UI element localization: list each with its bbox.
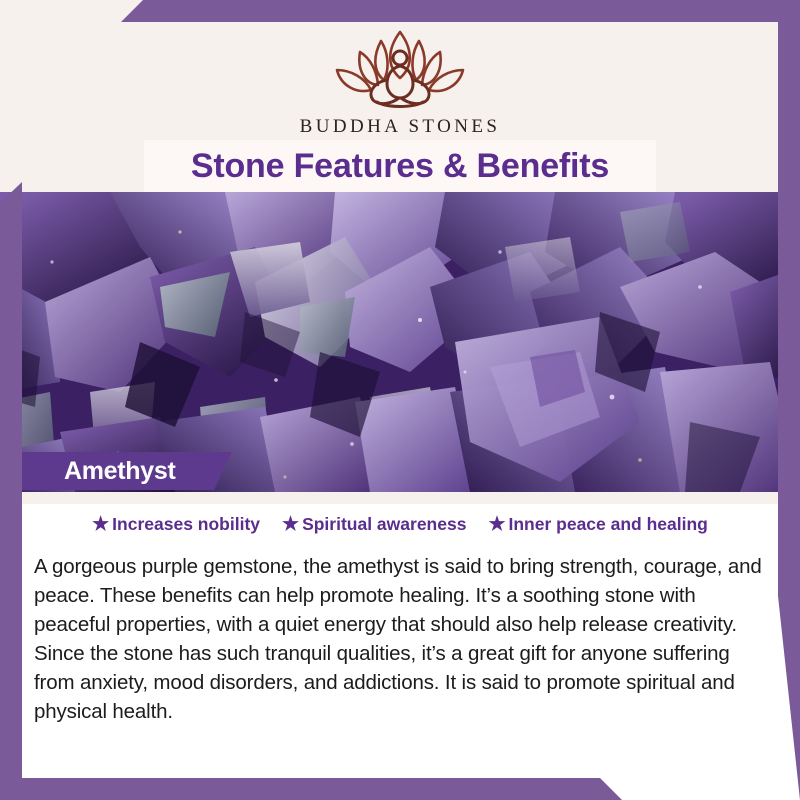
brand-name: BUDDHA STONES	[0, 116, 800, 138]
stone-name: Amethyst	[22, 457, 176, 486]
feature-item: ★ Inner peace and healing	[488, 514, 707, 535]
star-icon: ★	[488, 515, 505, 534]
brand-logo: BUDDHA STONES	[0, 22, 800, 138]
divider-strip	[0, 492, 800, 504]
stone-description: A gorgeous purple gemstone, the amethyst…	[34, 552, 774, 726]
star-icon: ★	[282, 515, 299, 534]
amethyst-crystal-cluster-photo	[0, 192, 800, 492]
lotus-meditation-icon	[315, 22, 485, 114]
feature-label: Inner peace and healing	[509, 514, 708, 535]
feature-list: ★ Increases nobility ★ Spiritual awarene…	[0, 514, 800, 535]
page-title: Stone Features & Benefits	[191, 147, 609, 186]
feature-label: Increases nobility	[112, 514, 260, 535]
feature-item: ★ Spiritual awareness	[282, 514, 466, 535]
section-title-band: Stone Features & Benefits	[144, 140, 656, 192]
stone-name-banner: Amethyst	[22, 452, 232, 490]
feature-item: ★ Increases nobility	[92, 514, 260, 535]
feature-label: Spiritual awareness	[302, 514, 466, 535]
product-info-poster: BUDDHA STONES Stone Features & Benefits …	[0, 0, 800, 800]
stone-content-panel: ★ Increases nobility ★ Spiritual awarene…	[0, 492, 800, 800]
star-icon: ★	[92, 515, 109, 534]
